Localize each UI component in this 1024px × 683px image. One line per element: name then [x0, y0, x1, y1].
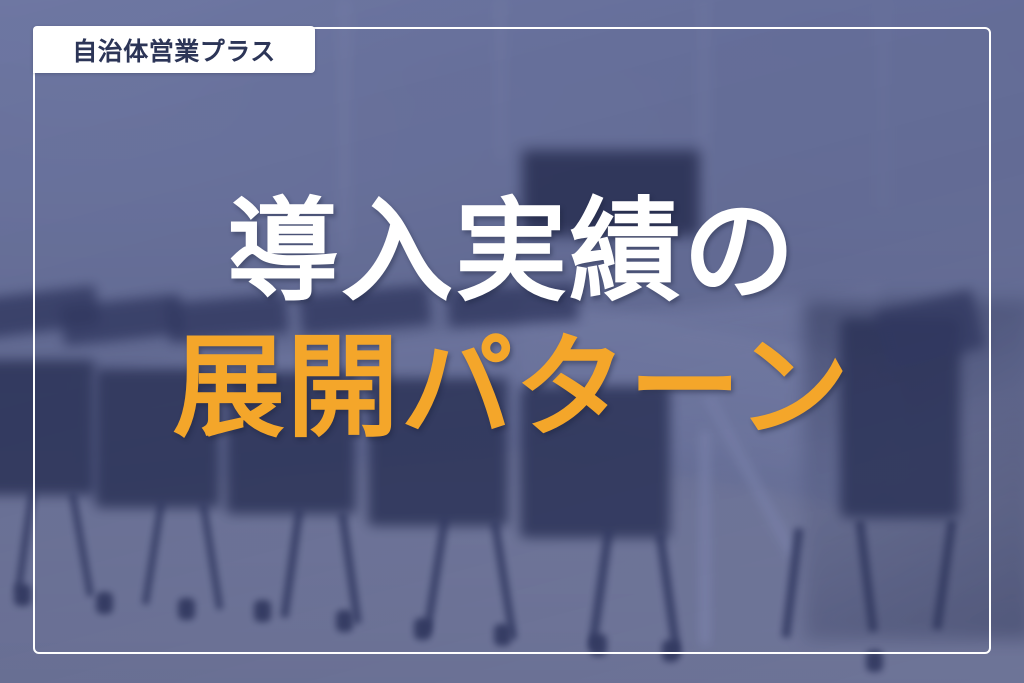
headline-block: 導入実績の 展開パターン [0, 196, 1024, 444]
category-badge-label: 自治体営業プラス [72, 32, 276, 68]
headline-line-1: 導入実績の [0, 196, 1024, 308]
headline-line-2: 展開パターン [0, 332, 1024, 444]
category-badge: 自治体営業プラス [33, 26, 315, 73]
hero-banner: 自治体営業プラス 導入実績の 展開パターン [0, 0, 1024, 683]
